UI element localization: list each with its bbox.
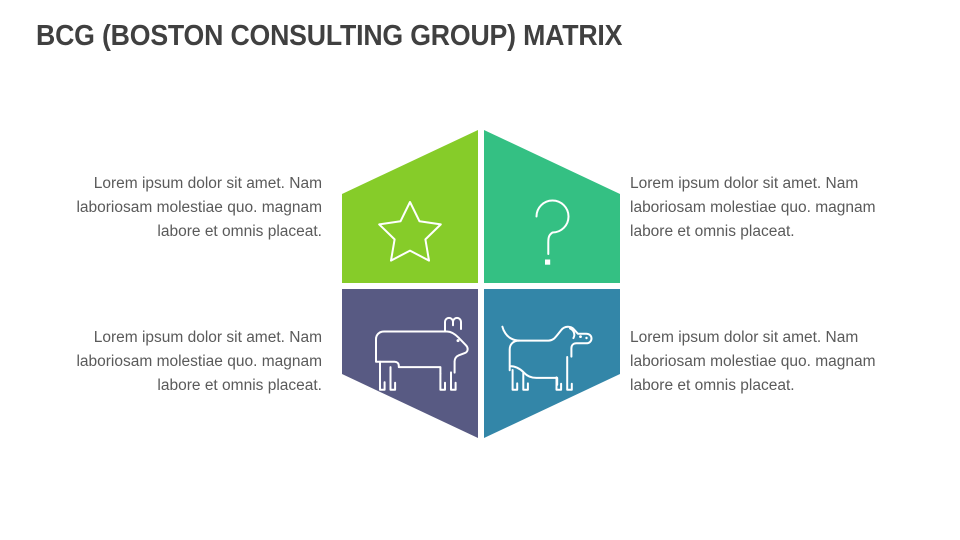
description-cash-cows: Lorem ipsum dolor sit amet. Nam laborios… xyxy=(72,326,322,398)
bcg-matrix-hexagon xyxy=(340,126,622,442)
quadrant-question-marks-shape[interactable] xyxy=(484,130,620,283)
quadrant-dogs[interactable] xyxy=(484,289,620,438)
description-stars: Lorem ipsum dolor sit amet. Nam laborios… xyxy=(72,172,322,244)
quadrant-cash-cows-shape[interactable] xyxy=(342,289,478,438)
quadrant-question-marks[interactable] xyxy=(484,130,620,283)
quadrant-stars-shape[interactable] xyxy=(342,130,478,283)
page-title: BCG (Boston Consulting Group) Matrix xyxy=(36,18,846,54)
quadrant-stars[interactable] xyxy=(342,130,478,283)
quadrant-cash-cows[interactable] xyxy=(342,289,478,438)
slide-canvas: BCG (Boston Consulting Group) Matrix Lor… xyxy=(0,0,960,540)
description-question-marks: Lorem ipsum dolor sit amet. Nam laborios… xyxy=(630,172,880,244)
quadrant-dogs-shape[interactable] xyxy=(484,289,620,438)
question-mark-dot-icon xyxy=(545,260,550,265)
description-dogs: Lorem ipsum dolor sit amet. Nam laborios… xyxy=(630,326,880,398)
